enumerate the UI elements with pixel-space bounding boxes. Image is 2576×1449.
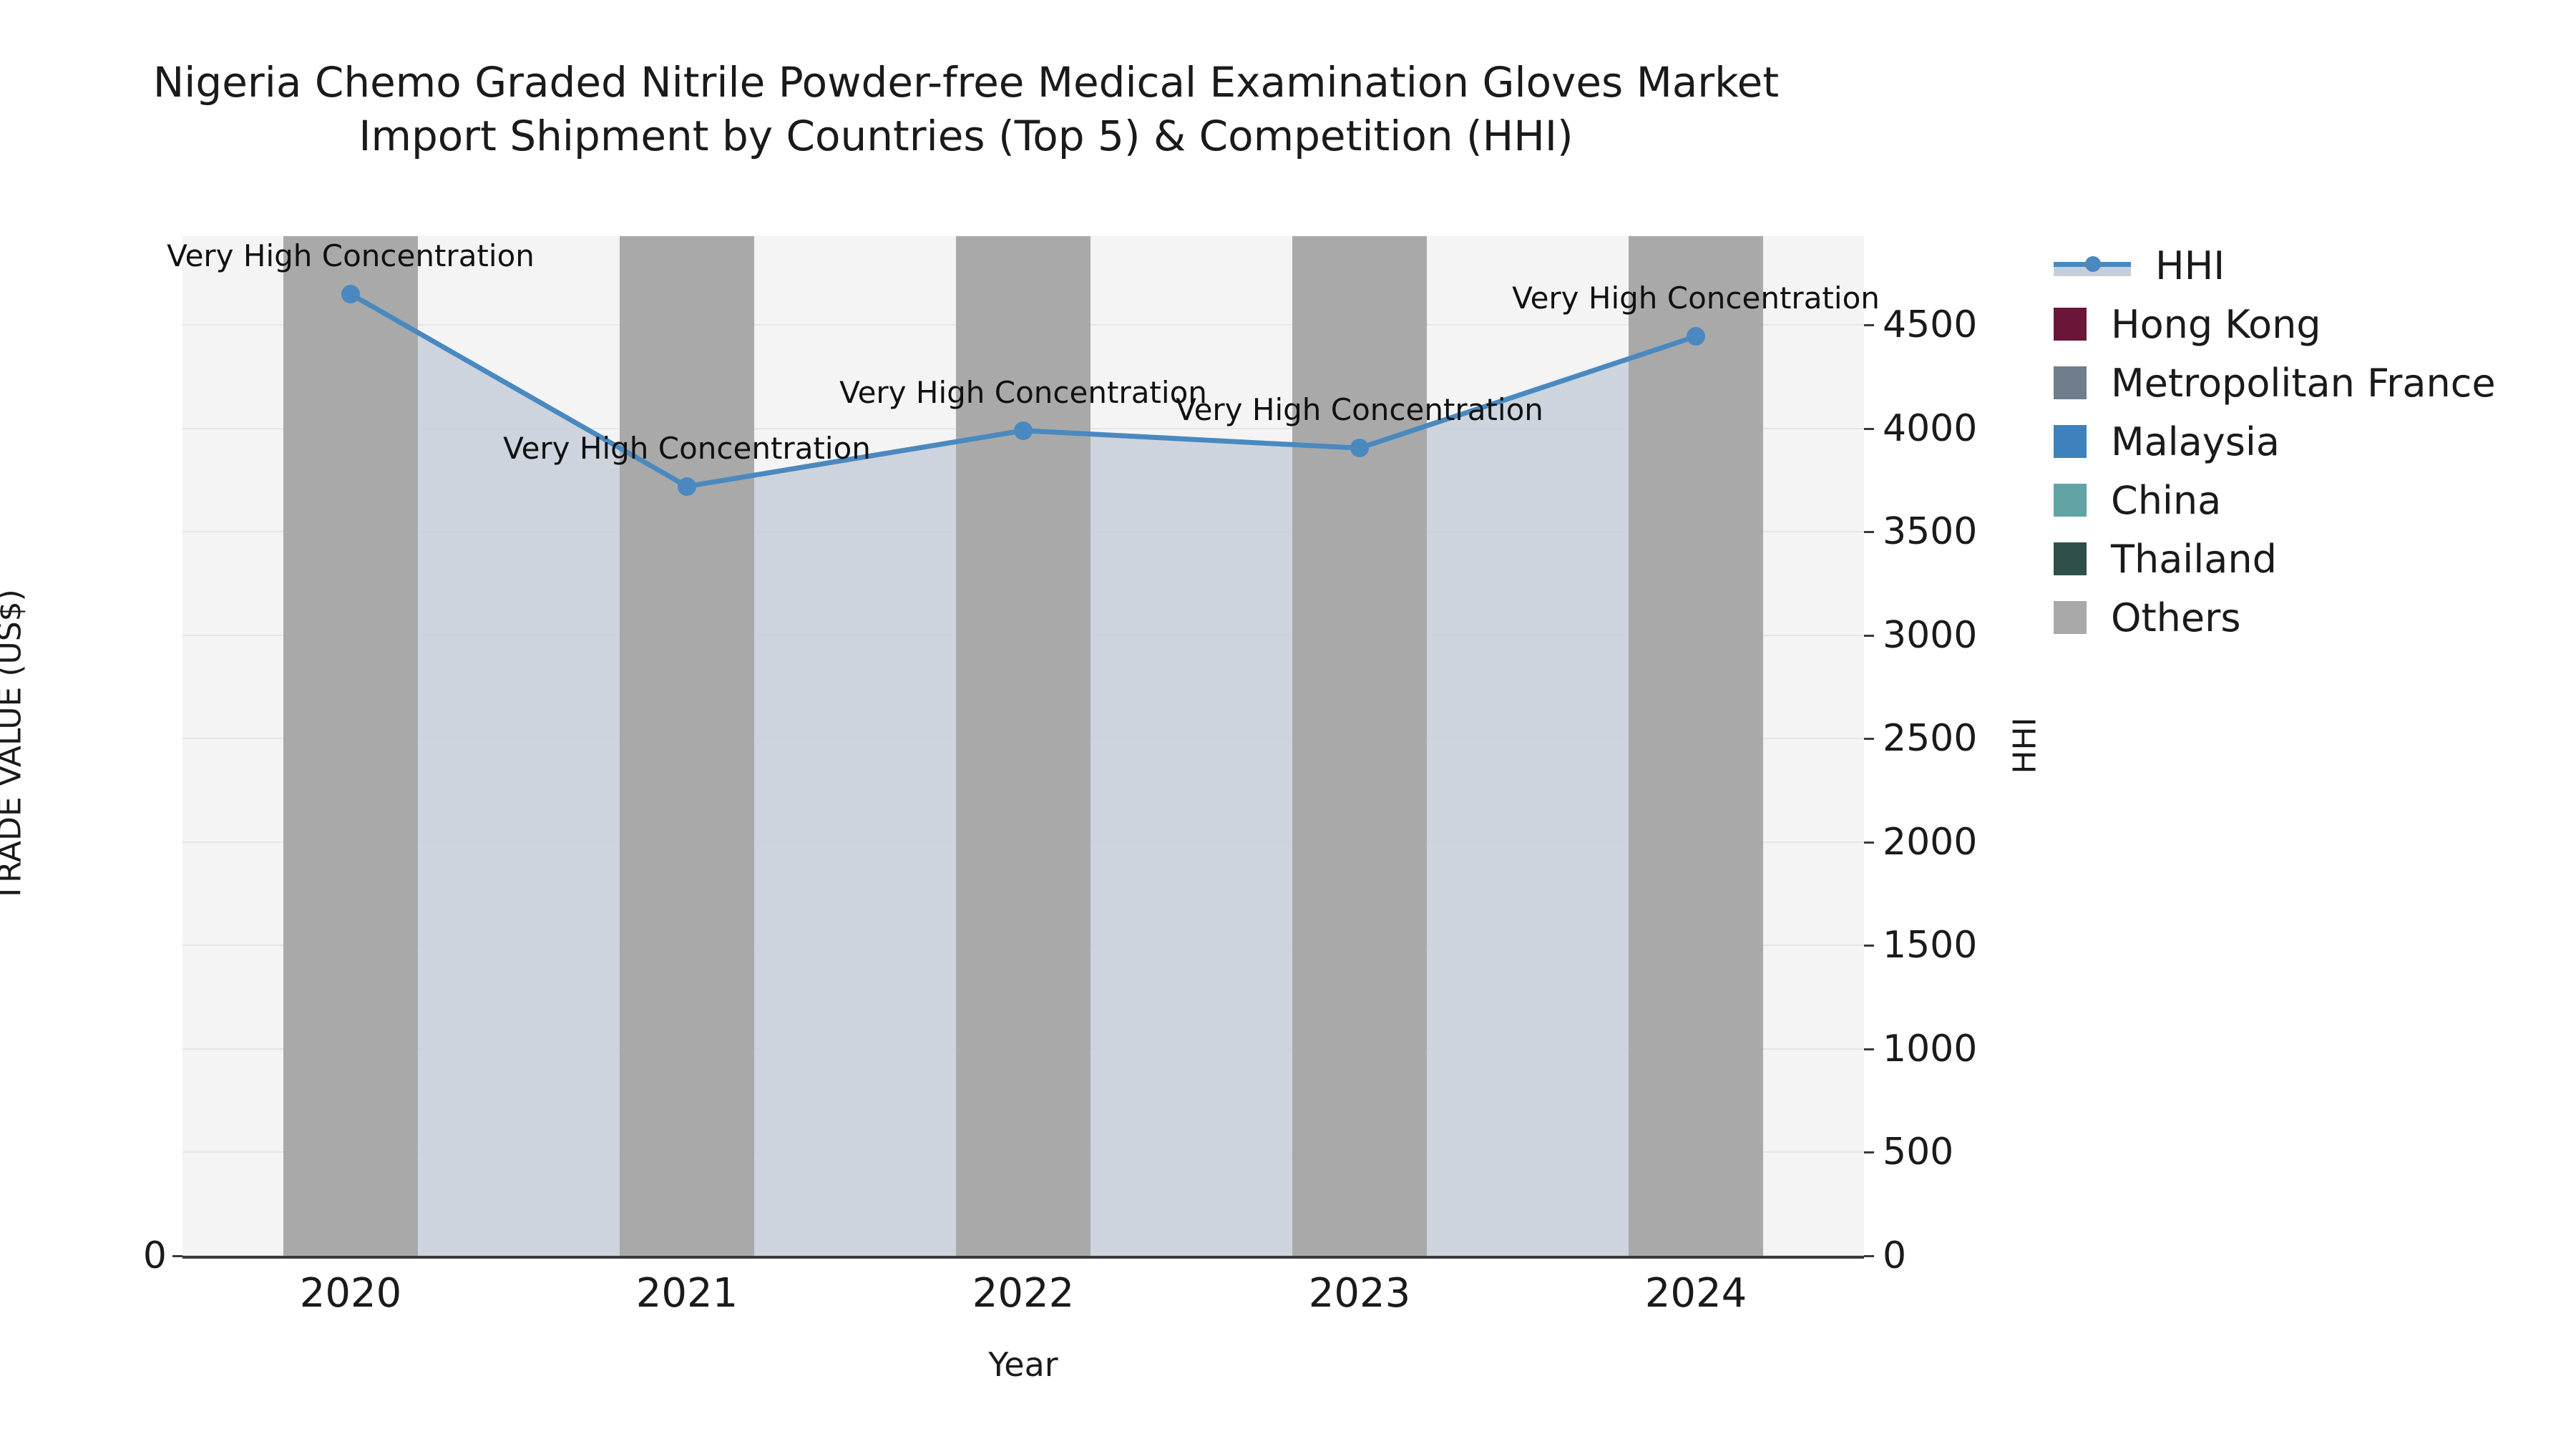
x-tick-label: 2024 — [1645, 1270, 1747, 1317]
legend-label: Others — [2111, 595, 2240, 640]
y2-tick — [1864, 1151, 1874, 1153]
concentration-annotation: Very High Concentration — [503, 431, 871, 466]
y2-tick-label: 2500 — [1883, 717, 1977, 760]
legend-label: China — [2111, 478, 2221, 523]
x-tick-label: 2022 — [972, 1270, 1075, 1317]
legend-item[interactable]: Thailand — [2054, 530, 2569, 588]
y2-tick — [1864, 738, 1874, 740]
x-tick-label: 2021 — [636, 1270, 738, 1317]
legend-label: Metropolitan France — [2111, 361, 2496, 406]
hhi-marker[interactable] — [1014, 421, 1033, 440]
legend-item[interactable]: Metropolitan France — [2054, 353, 2569, 412]
y2-tick-label: 3000 — [1883, 614, 1977, 657]
legend-item[interactable]: Others — [2054, 588, 2569, 647]
y-tick — [172, 1255, 182, 1257]
chart-title: Nigeria Chemo Graded Nitrile Powder-free… — [0, 56, 1932, 164]
chart-title-line-2: Import Shipment by Countries (Top 5) & C… — [0, 109, 1932, 163]
concentration-annotation: Very High Concentration — [1176, 392, 1543, 427]
chart-title-line-1: Nigeria Chemo Graded Nitrile Powder-free… — [0, 56, 1932, 109]
legend-line-icon — [2054, 249, 2131, 282]
y-axis-title: TRADE VALUE (US$) — [0, 589, 29, 902]
y2-tick-label: 500 — [1883, 1131, 1953, 1174]
y2-tick — [1864, 945, 1874, 947]
legend-item[interactable]: HHI — [2054, 236, 2569, 295]
y2-tick — [1864, 531, 1874, 533]
hhi-marker[interactable] — [678, 477, 696, 496]
x-tick-label: 2023 — [1309, 1270, 1411, 1317]
legend-swatch — [2054, 425, 2087, 458]
chart-canvas: Nigeria Chemo Graded Nitrile Powder-free… — [0, 0, 2576, 1449]
legend-item[interactable]: Malaysia — [2054, 412, 2569, 471]
y2-axis-title: HHI — [2007, 717, 2044, 774]
x-axis-title: Year — [988, 1345, 1058, 1384]
concentration-annotation: Very High Concentration — [839, 375, 1207, 410]
y2-tick — [1864, 635, 1874, 637]
legend-swatch — [2054, 484, 2087, 517]
y2-tick — [1864, 1048, 1874, 1050]
legend-swatch — [2054, 542, 2087, 575]
y2-tick-label: 1500 — [1883, 924, 1977, 967]
y2-tick — [1864, 324, 1874, 326]
y2-tick-label: 4500 — [1883, 303, 1977, 346]
legend-item[interactable]: China — [2054, 471, 2569, 530]
y-tick-label: 0 — [143, 1234, 167, 1277]
concentration-annotation: Very High Concentration — [1512, 280, 1880, 316]
legend: HHIHong KongMetropolitan FranceMalaysiaC… — [2054, 236, 2569, 647]
y2-tick-label: 0 — [1883, 1234, 1906, 1277]
y2-tick — [1864, 1255, 1874, 1257]
hhi-marker[interactable] — [341, 285, 360, 303]
y2-tick-label: 2000 — [1883, 821, 1977, 864]
hhi-marker[interactable] — [1687, 327, 1705, 346]
legend-label: Thailand — [2111, 537, 2277, 582]
legend-label: Malaysia — [2111, 419, 2280, 464]
concentration-annotation: Very High Concentration — [167, 238, 535, 273]
y2-tick-label: 4000 — [1883, 407, 1977, 450]
legend-swatch — [2054, 601, 2087, 634]
y2-tick — [1864, 428, 1874, 430]
legend-swatch — [2054, 366, 2087, 399]
legend-item[interactable]: Hong Kong — [2054, 295, 2569, 353]
y2-tick-label: 3500 — [1883, 510, 1977, 553]
legend-label: HHI — [2155, 243, 2225, 288]
y2-tick-label: 1000 — [1883, 1028, 1977, 1070]
y2-tick — [1864, 841, 1874, 844]
legend-swatch — [2054, 308, 2087, 341]
x-tick-label: 2020 — [300, 1270, 402, 1317]
legend-label: Hong Kong — [2111, 302, 2321, 347]
x-axis-line — [182, 1256, 1864, 1259]
